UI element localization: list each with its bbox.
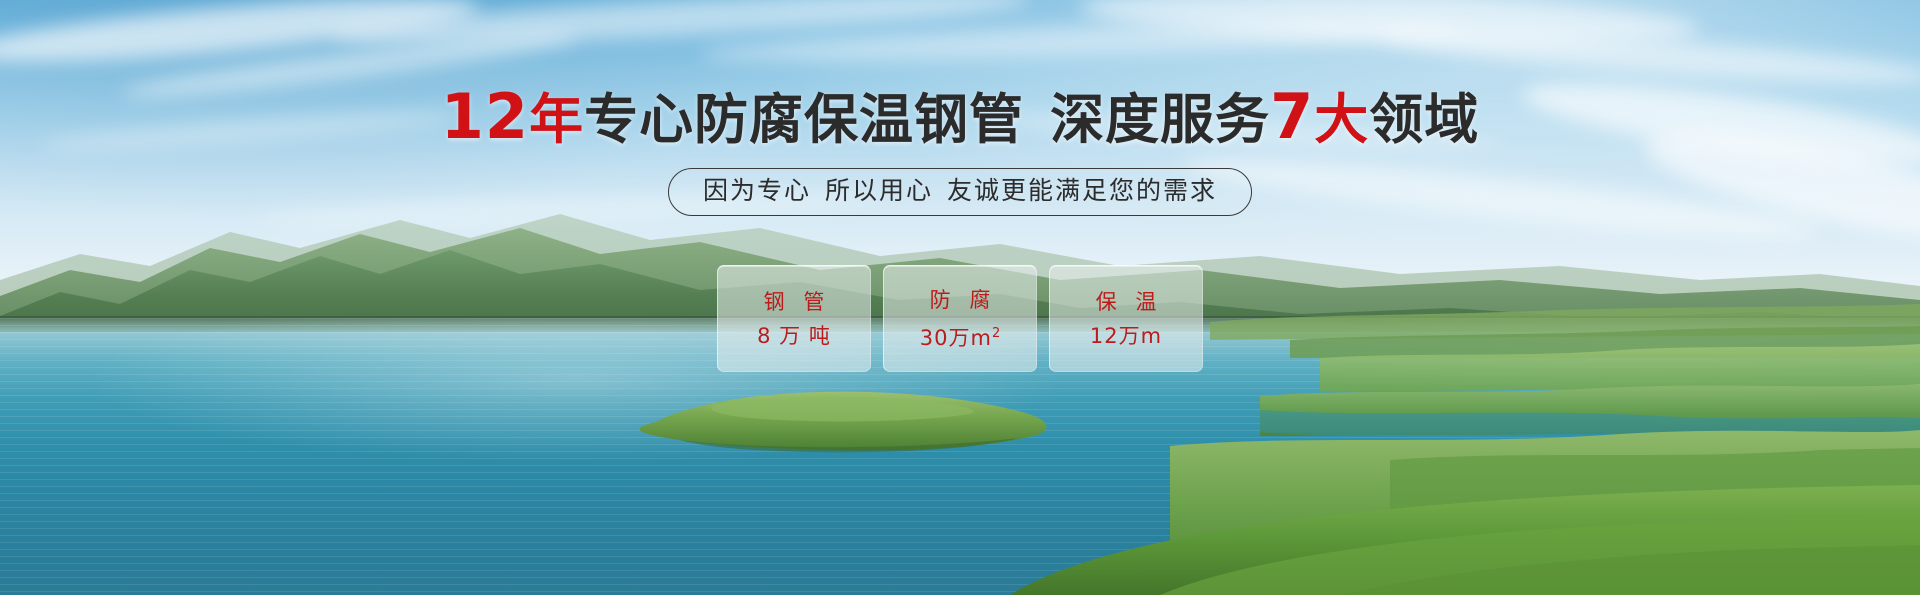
subtitle-container: 因为专心所以用心友诚更能满足您的需求 [0, 168, 1920, 216]
stat-card-value-text: 30万m [920, 326, 992, 350]
headline-years-number: 12 [441, 80, 529, 153]
stat-card-group: 钢 管 8 万 吨 防 腐 30万m2 保 温 12万m [0, 265, 1920, 372]
stat-card-label: 保 温 [1090, 291, 1163, 313]
headline-fields-word: 领域 [1369, 88, 1479, 151]
headline-service-phrase: 深度服务 [1050, 88, 1270, 151]
stat-card-label: 钢 管 [758, 291, 831, 313]
headline-main-phrase: 专心防腐保温钢管 [584, 88, 1024, 151]
subtitle-pill: 因为专心所以用心友诚更能满足您的需求 [668, 168, 1252, 216]
stat-card-value: 30万m2 [920, 323, 1000, 349]
stat-card-steel-pipe: 钢 管 8 万 吨 [717, 265, 871, 372]
stat-card-value-superscript: 2 [992, 326, 1000, 341]
stat-card-value: 12万m [1090, 325, 1162, 347]
foreground-grass [0, 445, 1920, 595]
subtitle-part-1: 因为专心 [703, 176, 811, 205]
stat-card-anticorrosion: 防 腐 30万m2 [883, 265, 1037, 372]
stat-card-value-text: 8 万 吨 [757, 324, 831, 348]
headline: 12年专心防腐保温钢管深度服务7大领域 [0, 88, 1920, 149]
stat-card-value: 8 万 吨 [757, 325, 831, 347]
subtitle-part-3: 友诚更能满足您的需求 [947, 176, 1217, 205]
hero-banner: 12年专心防腐保温钢管深度服务7大领域 因为专心所以用心友诚更能满足您的需求 钢… [0, 0, 1920, 595]
stat-card-label: 防 腐 [924, 289, 997, 311]
stat-card-insulation: 保 温 12万m [1049, 265, 1203, 372]
subtitle-part-2: 所以用心 [825, 176, 933, 205]
headline-fields-number: 7 [1270, 80, 1314, 153]
headline-years-unit: 年 [529, 88, 584, 151]
grass-island [620, 382, 1060, 454]
stat-card-value-text: 12万m [1090, 324, 1162, 348]
headline-fields-measure: 大 [1314, 88, 1369, 151]
